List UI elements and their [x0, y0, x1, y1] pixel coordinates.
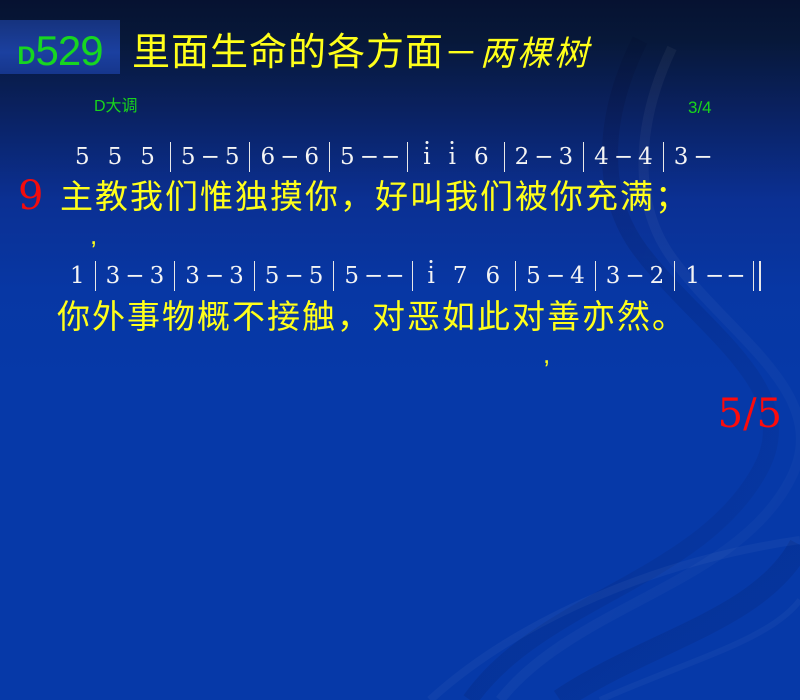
note-sustain-dash: − [204, 265, 225, 288]
lyric-row-1: 主教我们惟独摸你，好叫我们被你充满； [60, 180, 690, 213]
note-number: 3 [225, 265, 248, 288]
barline [515, 261, 516, 291]
note-number: i [419, 265, 444, 288]
note-sustain-dash: − [363, 265, 384, 288]
title-main-text: 里面生命的各方面 [132, 30, 444, 74]
key-signature-label: D大调 [94, 99, 138, 115]
barline [174, 261, 175, 291]
note-sustain-dash: − [283, 265, 304, 288]
measure: 4−4 [590, 141, 657, 173]
note-number: 3 [670, 146, 693, 169]
note-number: 2 [511, 146, 534, 169]
barline [595, 261, 596, 291]
note-number: i [414, 146, 439, 169]
note-number: 4 [634, 146, 657, 169]
barline [329, 142, 330, 172]
note-number: 5 [522, 265, 545, 288]
note-number: 6 [465, 146, 498, 169]
note-number: 4 [566, 265, 589, 288]
measure: 5−5 [177, 141, 244, 173]
measure: 3−3 [181, 260, 248, 292]
note-number: 5 [177, 146, 200, 169]
page-title: 里面生命的各方面－两棵树 [132, 33, 591, 71]
note-sustain-dash: − [692, 146, 713, 169]
barline [249, 142, 250, 172]
title-subtitle-text: 两棵树 [480, 34, 591, 74]
lyric-row-2: 你外事物概不接触，对恶如此对善亦然。 [57, 300, 687, 333]
measure: 2−3 [511, 141, 578, 173]
barline [674, 261, 675, 291]
note-sustain-dash: − [533, 146, 554, 169]
note-number: 3 [555, 146, 578, 169]
note-number: 6 [477, 265, 510, 288]
page-counter: 5/5 [718, 394, 782, 434]
verse-number: 9 [18, 176, 43, 216]
note-number: 2 [646, 265, 669, 288]
measure: ii6 [414, 141, 497, 173]
note-number: 6 [300, 146, 323, 169]
note-number: 3 [602, 265, 625, 288]
barline [95, 261, 96, 291]
note-number: 6 [256, 146, 279, 169]
note-sustain-dash: − [704, 265, 725, 288]
note-number: 7 [444, 265, 477, 288]
measure: 3−2 [602, 260, 669, 292]
note-number: 3 [102, 265, 125, 288]
note-sustain-dash: − [200, 146, 221, 169]
time-signature-label: 3/4 [688, 99, 712, 116]
measure: 5−5 [261, 260, 328, 292]
barline [254, 261, 255, 291]
hymn-number-value: 529 [35, 30, 102, 72]
notation-row-1: 5555−56−65−−ii62−34−43− [66, 140, 796, 174]
barline [663, 142, 664, 172]
note-number: 5 [66, 146, 99, 169]
note-number: 1 [66, 265, 89, 288]
measure: 555 [66, 141, 164, 173]
breath-mark-2: , [543, 341, 550, 367]
slide-canvas: D529 里面生命的各方面－两棵树 D大调 3/4 9 5555−56−65−−… [0, 0, 800, 700]
note-number: 5 [261, 265, 284, 288]
note-number: 3 [181, 265, 204, 288]
measure: 5−4 [522, 260, 589, 292]
note-number: 4 [590, 146, 613, 169]
title-separator-dash: － [444, 34, 478, 74]
note-number: 5 [99, 146, 132, 169]
note-number: 5 [221, 146, 244, 169]
note-sustain-dash: − [613, 146, 634, 169]
barline [407, 142, 408, 172]
note-sustain-dash: − [380, 146, 401, 169]
note-number: 1 [681, 265, 704, 288]
measure: 3− [670, 141, 714, 173]
note-sustain-dash: − [624, 265, 645, 288]
note-number: 5 [305, 265, 328, 288]
breath-mark-1: , [90, 222, 97, 248]
note-number: i [440, 146, 465, 169]
hymn-number-badge: D529 [0, 20, 120, 74]
barline [412, 261, 413, 291]
note-sustain-dash: − [279, 146, 300, 169]
final-double-barline [753, 261, 761, 291]
barline [333, 261, 334, 291]
note-sustain-dash: − [384, 265, 405, 288]
note-sustain-dash: − [124, 265, 145, 288]
note-sustain-dash: − [725, 265, 746, 288]
measure: 1−− [681, 260, 746, 292]
hymn-number-prefix: D [17, 44, 35, 69]
measure: 5−− [340, 260, 405, 292]
note-number: 3 [146, 265, 169, 288]
notation-row-2: 13−33−35−55−−i765−43−21−− [66, 259, 796, 293]
note-number: 5 [131, 146, 164, 169]
barline [170, 142, 171, 172]
note-sustain-dash: − [359, 146, 380, 169]
note-number: 5 [336, 146, 359, 169]
note-number: 5 [340, 265, 363, 288]
measure: 5−− [336, 141, 401, 173]
measure: 6−6 [256, 141, 323, 173]
measure: i76 [419, 260, 510, 292]
measure: 3−3 [102, 260, 169, 292]
barline [583, 142, 584, 172]
barline [504, 142, 505, 172]
note-sustain-dash: − [545, 265, 566, 288]
measure: 1 [66, 260, 89, 292]
